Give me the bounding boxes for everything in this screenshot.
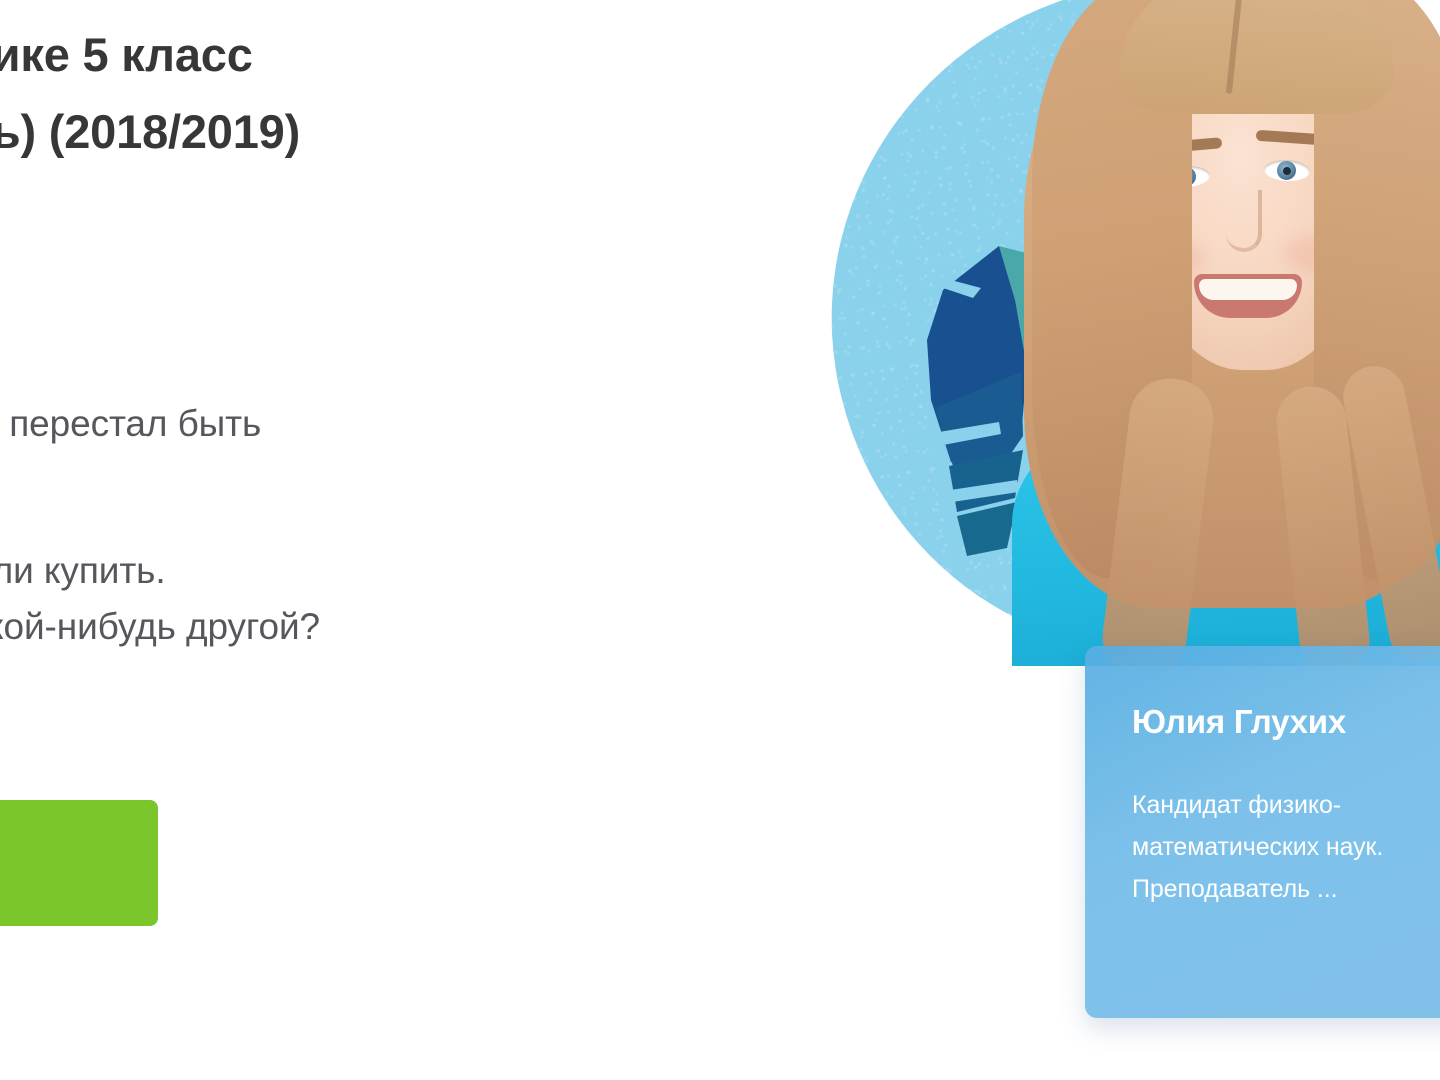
portrait-nose: [1226, 190, 1262, 252]
portrait-mouth: [1194, 274, 1302, 318]
portrait-teeth: [1199, 279, 1297, 300]
portrait-iris-right: [1277, 160, 1297, 180]
hero-illustration: [810, 0, 1440, 688]
page-title: ...орматике 5 класс ...ровень) (2018/201…: [0, 16, 634, 170]
paragraph-spacer: [0, 452, 714, 543]
instructor-portrait-photo: [988, 0, 1440, 666]
enroll-course-button[interactable]: ...курс: [0, 800, 158, 926]
instructor-bio: Кандидат физико- математических наук. Пр…: [1132, 784, 1440, 910]
course-description: ...арел или перестал быть ...бовать или …: [0, 396, 714, 655]
landing-page-root: ...орматике 5 класс ...ровень) (2018/201…: [0, 0, 1440, 1080]
instructor-name: Юлия Глухих: [1132, 702, 1440, 742]
course-description-paragraph-1: ...арел или перестал быть: [0, 396, 714, 452]
portrait-hair-top: [1118, 0, 1394, 114]
course-description-paragraph-2: ...бовать или купить. ...вится какой-ниб…: [0, 543, 714, 655]
portrait-pupil-right: [1282, 166, 1290, 174]
instructor-info-card: Юлия Глухих Кандидат физико- математичес…: [1085, 646, 1440, 1018]
